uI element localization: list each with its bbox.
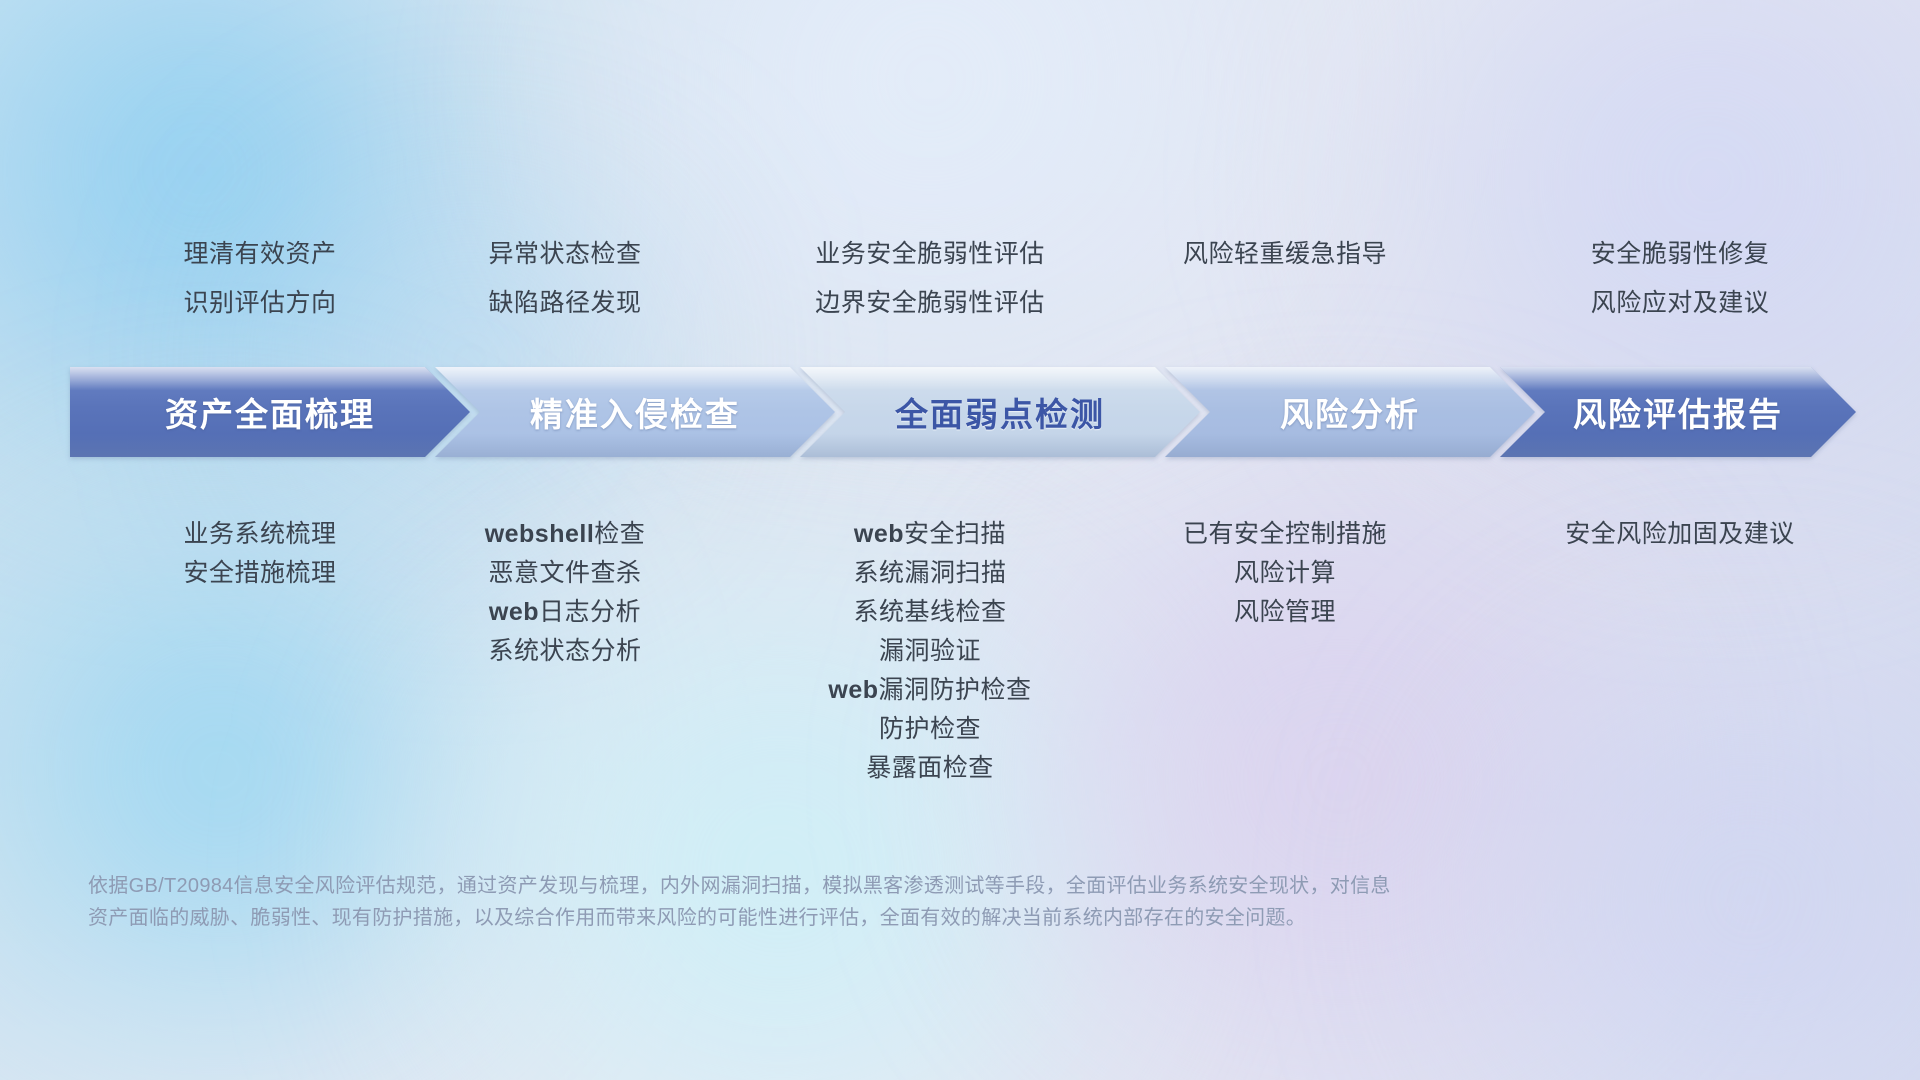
list-item-rest: 漏洞防护检查: [879, 676, 1032, 704]
list-item-rest: 检查: [594, 520, 645, 548]
chevron-label: 风险分析: [1280, 388, 1420, 436]
list-item-rest: 日志分析: [539, 598, 641, 626]
list-item-rest: 防护检查: [879, 715, 981, 743]
list-item-rest: 安全扫描: [904, 520, 1006, 548]
list-item-lead: webshell: [485, 520, 595, 548]
list-item: web漏洞防护检查: [690, 671, 1170, 710]
chevron-label: 资产全面梳理: [165, 388, 375, 436]
list-item-lead: web: [489, 598, 539, 626]
footer-description: 依据GB/T20984信息安全风险评估规范，通过资产发现与梳理，内外网漏洞扫描，…: [88, 870, 1648, 934]
process-chevron-band: 资产全面梳理 精准入侵检查 全面弱点检测 风险分析 风险评估报告: [70, 367, 1856, 457]
top-note-line: 风险应对及建议: [1455, 279, 1905, 328]
list-item-rest: 业务系统梳理: [183, 520, 336, 548]
top-notes-risk-analysis: 风险轻重缓急指导: [1060, 230, 1510, 279]
list-item-rest: 安全风险加固及建议: [1565, 520, 1795, 548]
list-item: 安全风险加固及建议: [1455, 515, 1905, 554]
bottom-items-risk-analysis: 已有安全控制措施 风险计算 风险管理: [1060, 515, 1510, 632]
footer-line: 资产面临的威胁、脆弱性、现有防护措施，以及综合作用而带来风险的可能性进行评估，全…: [88, 902, 1648, 934]
top-notes-assessment-report: 安全脆弱性修复 风险应对及建议: [1455, 230, 1905, 328]
list-item: 防护检查: [690, 710, 1170, 749]
list-item: 风险计算: [1060, 554, 1510, 593]
list-item: 漏洞验证: [690, 632, 1170, 671]
chevron-stage-risk-analysis[interactable]: 风险分析: [1165, 367, 1535, 457]
chevron-stage-asset-inventory[interactable]: 资产全面梳理: [70, 367, 470, 457]
chevron-stage-intrusion-check[interactable]: 精准入侵检查: [435, 367, 835, 457]
list-item-lead: web: [828, 676, 878, 704]
list-item-rest: 风险管理: [1234, 598, 1336, 626]
footer-line: 依据GB/T20984信息安全风险评估规范，通过资产发现与梳理，内外网漏洞扫描，…: [88, 870, 1648, 902]
top-note-line: 风险轻重缓急指导: [1060, 230, 1510, 279]
process-diagram: 理清有效资产 识别评估方向 异常状态检查 缺陷路径发现 业务安全脆弱性评估 边界…: [0, 0, 1920, 1080]
chevron-label: 全面弱点检测: [895, 388, 1105, 436]
list-item-rest: 系统基线检查: [853, 598, 1006, 626]
list-item-rest: 系统状态分析: [488, 637, 641, 665]
list-item-rest: 系统漏洞扫描: [853, 559, 1006, 587]
chevron-label: 风险评估报告: [1573, 388, 1783, 436]
top-note-line: 安全脆弱性修复: [1455, 230, 1905, 279]
list-item-rest: 已有安全控制措施: [1183, 520, 1387, 548]
chevron-stage-weakness-detection[interactable]: 全面弱点检测: [800, 367, 1200, 457]
list-item-rest: 恶意文件查杀: [488, 559, 641, 587]
chevron-stage-assessment-report[interactable]: 风险评估报告: [1500, 367, 1856, 457]
bottom-items-assessment-report: 安全风险加固及建议: [1455, 515, 1905, 554]
top-note-line: 边界安全脆弱性评估: [690, 279, 1170, 328]
list-item-rest: 风险计算: [1234, 559, 1336, 587]
list-item: 暴露面检查: [690, 749, 1170, 788]
list-item: 风险管理: [1060, 593, 1510, 632]
list-item-rest: 漏洞验证: [879, 637, 981, 665]
chevron-label: 精准入侵检查: [530, 388, 740, 436]
list-item-rest: 安全措施梳理: [183, 559, 336, 587]
list-item-rest: 暴露面检查: [866, 754, 994, 782]
list-item: 已有安全控制措施: [1060, 515, 1510, 554]
list-item-lead: web: [854, 520, 904, 548]
